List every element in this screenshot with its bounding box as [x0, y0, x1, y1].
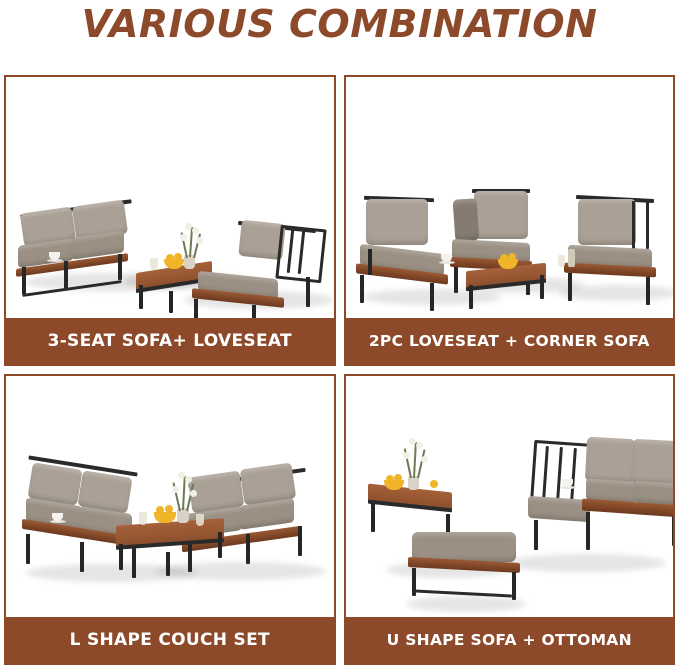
table-leg	[540, 275, 544, 299]
loveseat-leg	[306, 277, 310, 307]
leg	[646, 277, 650, 305]
floor-shadow	[506, 554, 666, 572]
fruit	[508, 253, 516, 261]
panel-3-caption: L SHAPE COUCH SET	[6, 617, 334, 663]
white-flower	[403, 452, 410, 459]
white-flower	[192, 227, 199, 234]
leg	[360, 275, 364, 303]
white-flower	[185, 223, 192, 230]
white-flower	[178, 472, 185, 479]
panel-2-caption: 2PC LOVESEAT + CORNER SOFA	[346, 318, 674, 364]
coffee-cup	[441, 254, 452, 262]
panel-4-photo	[346, 376, 674, 617]
table-leg	[169, 291, 173, 313]
combination-panel-u-shape-sofa-ottoman[interactable]: U SHAPE SOFA + OTTOMAN	[344, 374, 676, 665]
leg	[368, 249, 372, 275]
table-leg	[166, 552, 170, 576]
panel-2-photo	[346, 77, 674, 318]
panel-3-photo	[6, 376, 334, 617]
panel-1-photo	[6, 77, 334, 318]
sofa-leg	[64, 261, 68, 289]
combination-panel-3-seat-sofa-loveseat[interactable]: 3-SEAT SOFA+ LOVESEAT	[4, 75, 336, 366]
leg	[454, 267, 458, 293]
floor-shadow	[558, 285, 674, 301]
combination-grid: 3-SEAT SOFA+ LOVESEAT	[4, 75, 675, 665]
table-leg	[218, 532, 222, 558]
floor-shadow	[406, 596, 526, 612]
white-flower	[172, 486, 179, 493]
leg	[26, 534, 30, 564]
panel-4-caption: U SHAPE SOFA + OTTOMAN	[346, 617, 674, 663]
fruit	[500, 254, 508, 262]
sofa-leg	[22, 267, 26, 295]
combination-panel-2pc-loveseat-corner-sofa[interactable]: 2PC LOVESEAT + CORNER SOFA	[344, 75, 676, 366]
back-cushion	[578, 199, 636, 245]
table-leg	[371, 504, 375, 532]
drink-glass	[150, 258, 158, 270]
white-flower	[416, 442, 423, 449]
drink-glass	[139, 512, 147, 525]
leg	[430, 283, 434, 311]
arm-slat	[632, 201, 635, 249]
fruit	[430, 480, 438, 488]
fruit	[394, 474, 402, 482]
white-flower	[180, 234, 187, 241]
arm-slat	[646, 201, 649, 249]
leg	[132, 548, 136, 578]
leg	[586, 522, 590, 550]
drink-glass	[558, 255, 565, 267]
leg	[80, 542, 84, 572]
fruit	[156, 506, 164, 514]
fruit	[386, 475, 394, 483]
table-leg	[119, 544, 123, 570]
leg	[188, 542, 192, 572]
leg	[672, 516, 674, 546]
drink-glass	[196, 514, 204, 526]
fruit	[165, 505, 173, 513]
table-leg	[139, 285, 143, 309]
sofa-leg	[118, 254, 122, 280]
table-leg	[469, 285, 473, 309]
white-flower	[190, 490, 197, 497]
fruit	[166, 254, 174, 262]
loveseat-leg	[252, 305, 256, 318]
corner-side-cushion	[452, 198, 479, 242]
leg	[534, 520, 538, 550]
page-title: VARIOUS COMBINATION	[0, 2, 679, 46]
back-cushion	[366, 199, 428, 245]
white-flower	[421, 456, 428, 463]
seat-cushion	[528, 496, 590, 522]
white-flower	[185, 476, 192, 483]
product-infographic: VARIOUS COMBINATION	[0, 0, 679, 670]
floor-shadow	[156, 562, 326, 580]
back-cushion	[630, 439, 673, 485]
back-cushion	[584, 437, 634, 483]
panel-1-caption: 3-SEAT SOFA+ LOVESEAT	[6, 318, 334, 364]
ottoman-leg	[512, 572, 516, 600]
leg	[568, 273, 572, 301]
fruit	[174, 253, 182, 261]
coffee-cup	[562, 479, 573, 487]
back-cushion	[474, 191, 528, 239]
white-flower	[196, 237, 203, 244]
leg	[298, 526, 302, 556]
loveseat-leg	[194, 299, 198, 318]
leg	[246, 534, 250, 564]
bottle	[568, 249, 575, 267]
flower-stem	[417, 450, 425, 479]
white-flower	[409, 438, 416, 445]
combination-panel-l-shape-couch-set[interactable]: L SHAPE COUCH SET	[4, 374, 336, 665]
